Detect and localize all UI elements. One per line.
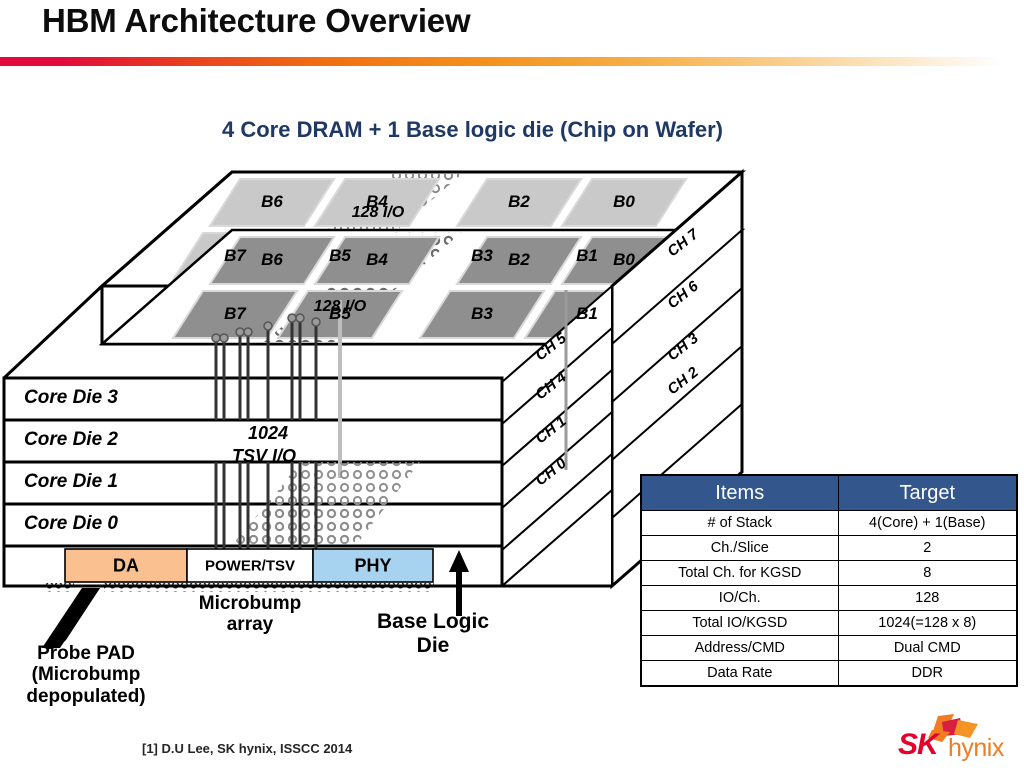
slide-canvas: HBM Architecture Overview 4 Core DRAM + … [0,0,1024,766]
callout-base-logic-line1: Base Logic [377,610,489,634]
spec-table: Items Target # of Stack 4(Core) + 1(Base… [640,474,1018,687]
table-cell-item: Total Ch. for KGSD [641,561,838,586]
table-cell-item: Data Rate [641,661,838,687]
callout-probe-pad-line3: depopulated) [26,686,145,707]
callout-base-logic-die: Base Logic Die [377,610,489,657]
bank-label: B1 [576,246,598,266]
logo-hynix-text: hynix [948,734,1004,763]
base-block-label-phy: PHY [354,556,391,577]
table-header-row: Items Target [641,475,1017,511]
citation-text: [1] D.U Lee, SK hynix, ISSCC 2014 [142,741,352,756]
base-block-label-power-tsv: POWER/TSV [205,558,295,575]
bank-label: B1 [576,304,598,324]
table-cell-item: IO/Ch. [641,586,838,611]
bank-label: B0 [613,192,635,212]
table-cell-target: 1024(=128 x 8) [838,611,1017,636]
table-cell-target: DDR [838,661,1017,687]
table-cell-item: # of Stack [641,511,838,536]
bank-label: B6 [261,250,283,270]
table-row: # of Stack 4(Core) + 1(Base) [641,511,1017,536]
core-die-label-0: Core Die 0 [24,513,118,535]
logo-sk-text: SK [898,728,938,762]
sk-hynix-logo: SK hynix [898,712,1018,771]
table-cell-item: Address/CMD [641,636,838,661]
table-row: Ch./Slice 2 [641,536,1017,561]
bank-label: B4 [366,250,388,270]
bank-label: B5 [329,246,351,266]
bank-label: B7 [224,304,246,324]
table-cell-target: 8 [838,561,1017,586]
tsv-io-label: TSV I/O [232,446,296,467]
core-die-label-3: Core Die 3 [24,387,118,409]
callout-microbump-line1: Microbump [199,593,301,614]
table-row: IO/Ch. 128 [641,586,1017,611]
table-cell-target: 2 [838,536,1017,561]
table-cell-item: Ch./Slice [641,536,838,561]
callout-probe-pad-line1: Probe PAD [26,643,145,664]
callout-base-logic-line2: Die [377,634,489,658]
table-cell-target: 128 [838,586,1017,611]
base-block-label-da: DA [113,556,139,577]
io-label-top-die: 128 I/O [352,204,404,222]
bank-label: B3 [471,246,493,266]
bank-label: B6 [261,192,283,212]
bank-label: B7 [224,246,246,266]
table-cell-target: 4(Core) + 1(Base) [838,511,1017,536]
table-row: Total IO/KGSD 1024(=128 x 8) [641,611,1017,636]
table-row: Total Ch. for KGSD 8 [641,561,1017,586]
callout-microbump-line2: array [199,614,301,635]
core-die-label-1: Core Die 1 [24,471,118,493]
bank-label: B2 [508,192,530,212]
bank-label: B3 [471,304,493,324]
table-cell-target: Dual CMD [838,636,1017,661]
table-row: Data Rate DDR [641,661,1017,687]
bank-label: B2 [508,250,530,270]
table-cell-item: Total IO/KGSD [641,611,838,636]
table-row: Address/CMD Dual CMD [641,636,1017,661]
table-header-items: Items [641,475,838,511]
table-header-target: Target [838,475,1017,511]
core-die-label-2: Core Die 2 [24,429,118,451]
callout-probe-pad-line2: (Microbump [26,664,145,685]
callout-probe-pad: Probe PAD (Microbump depopulated) [26,643,145,707]
tsv-count-label: 1024 [248,423,288,444]
bank-label: B0 [613,250,635,270]
probe-pad-leader-curve [44,588,100,649]
io-label-second-die: 128 I/O [314,298,366,316]
callout-microbump-array: Microbump array [199,593,301,636]
